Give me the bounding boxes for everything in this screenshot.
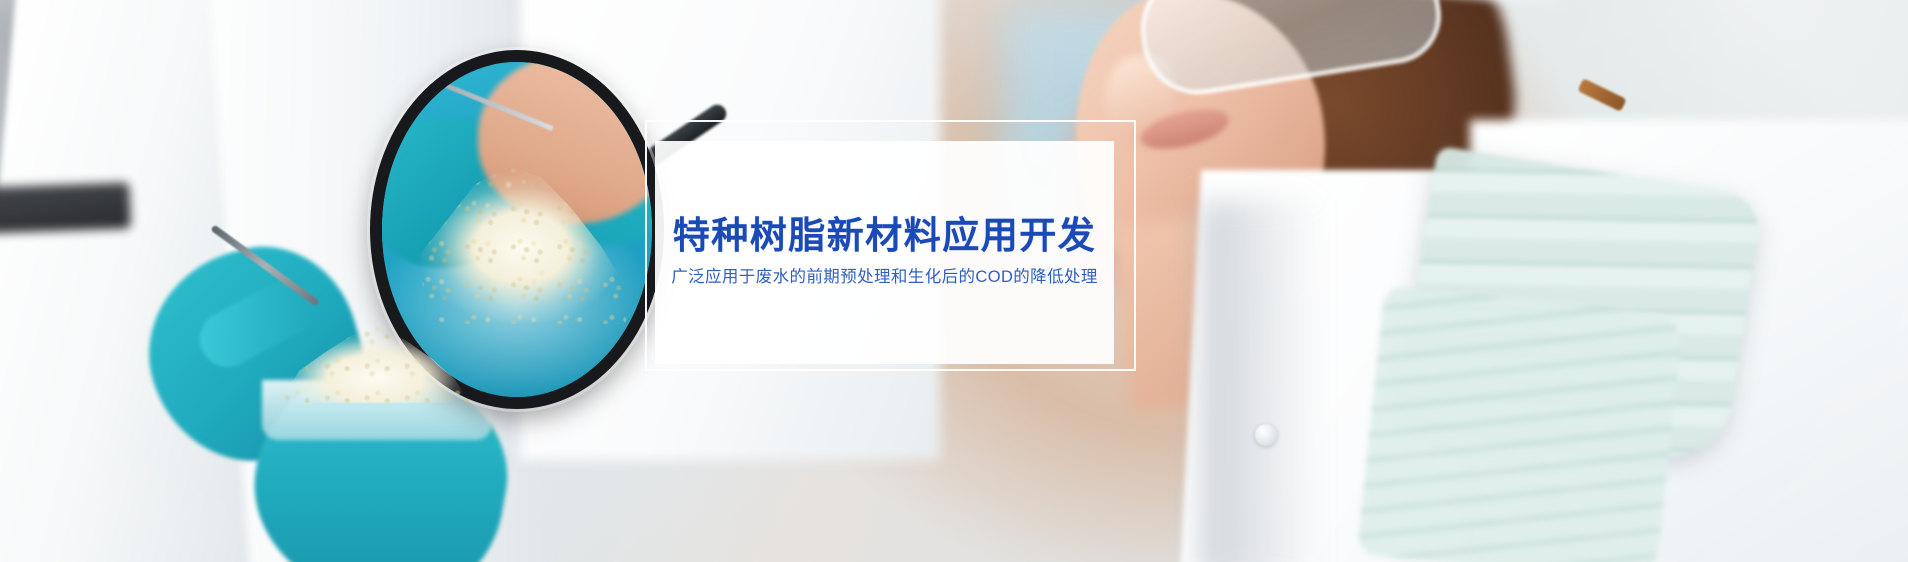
banner-subtitle: 广泛应用于废水的前期预处理和生化后的COD的降低处理 bbox=[671, 267, 1098, 288]
text-card: 特种树脂新材料应用开发 广泛应用于废水的前期预处理和生化后的COD的降低处理 bbox=[655, 141, 1114, 364]
banner-headline: 特种树脂新材料应用开发 bbox=[673, 216, 1097, 257]
text-card-content: 特种树脂新材料应用开发 广泛应用于废水的前期预处理和生化后的COD的降低处理 bbox=[655, 141, 1114, 364]
hero-banner: 特种树脂新材料应用开发 广泛应用于废水的前期预处理和生化后的COD的降低处理 bbox=[0, 0, 1908, 562]
